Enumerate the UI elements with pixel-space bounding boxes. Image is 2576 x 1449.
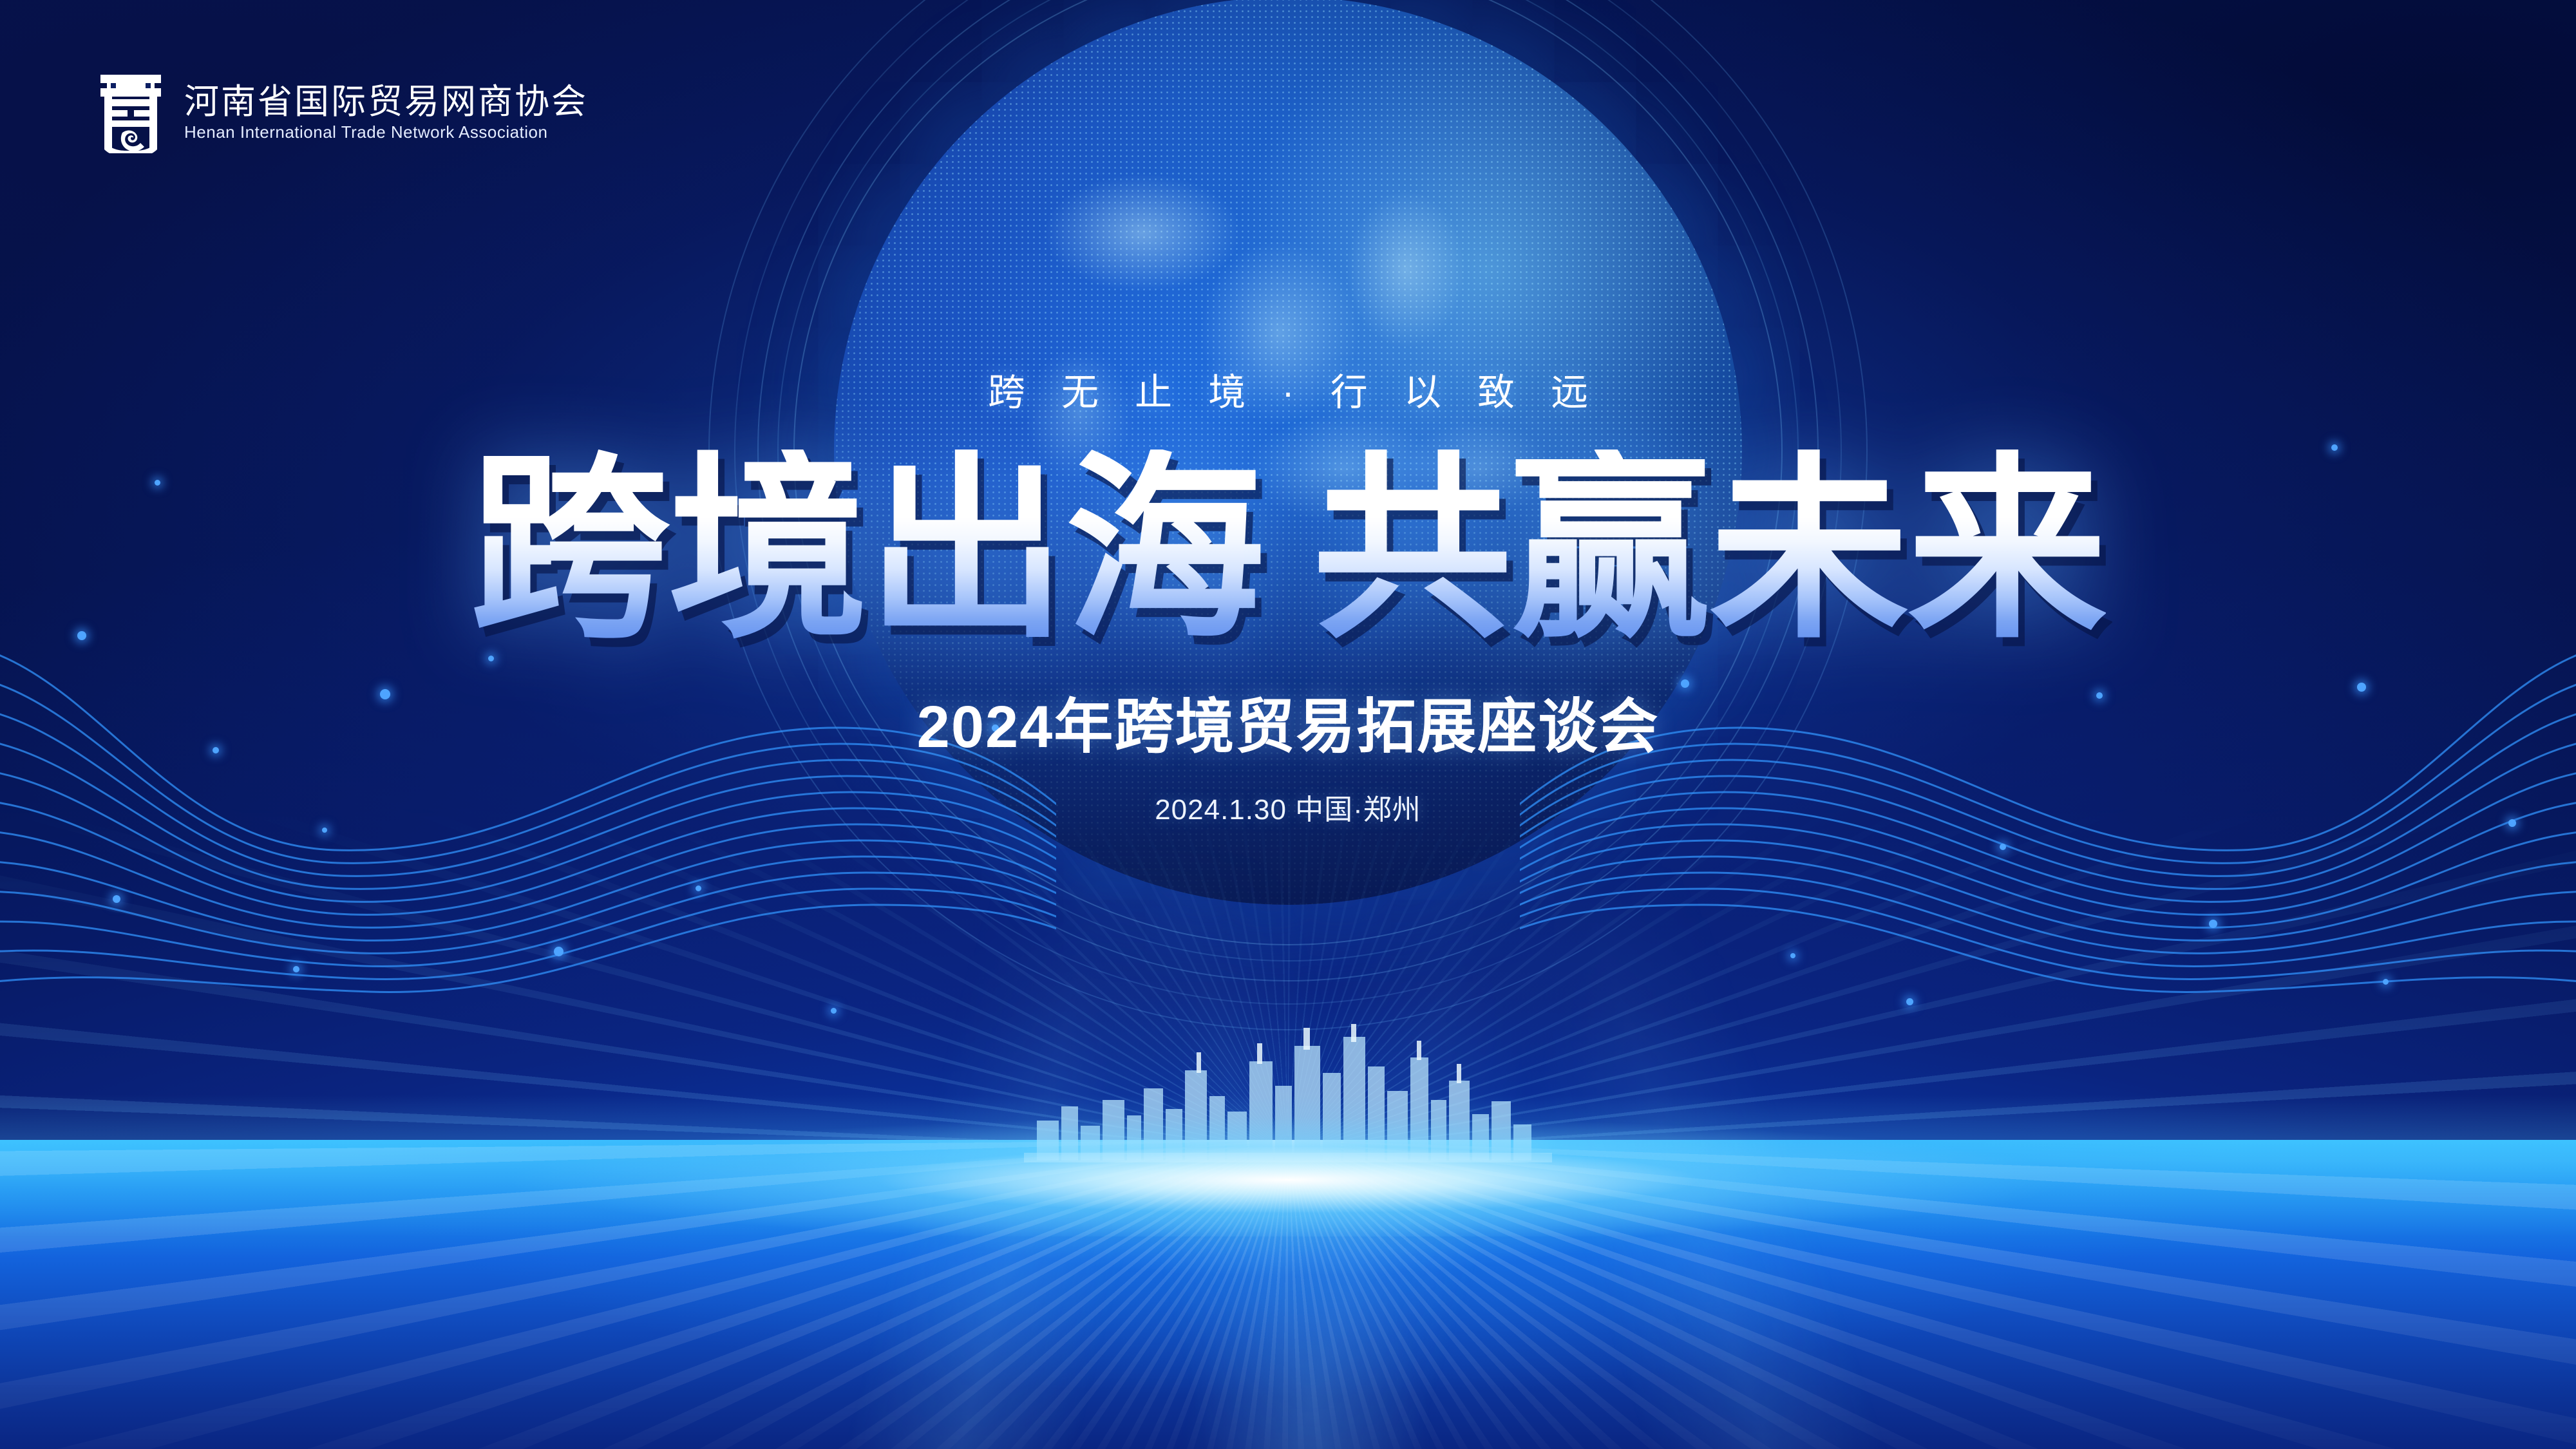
- event-subtitle: 2024年跨境贸易拓展座谈会: [917, 679, 1660, 764]
- event-poster: 河南省国际贸易网商协会 Henan International Trade Ne…: [0, 0, 2576, 1449]
- headline-part-1: 跨境出海: [470, 450, 1264, 649]
- headline-part-2: 共赢未来: [1312, 450, 2106, 649]
- tagline: 跨 无 止 境 · 行 以 致 远: [975, 362, 1601, 416]
- event-date-location: 2024.1.30 中国·郑州: [1155, 786, 1421, 828]
- page-title: 跨境出海 共赢未来: [470, 450, 2106, 649]
- poster-content: 跨 无 止 境 · 行 以 致 远 跨境出海 共赢未来 2024年跨境贸易拓展座…: [0, 0, 2576, 828]
- horizon-glow: [0, 1095, 2576, 1236]
